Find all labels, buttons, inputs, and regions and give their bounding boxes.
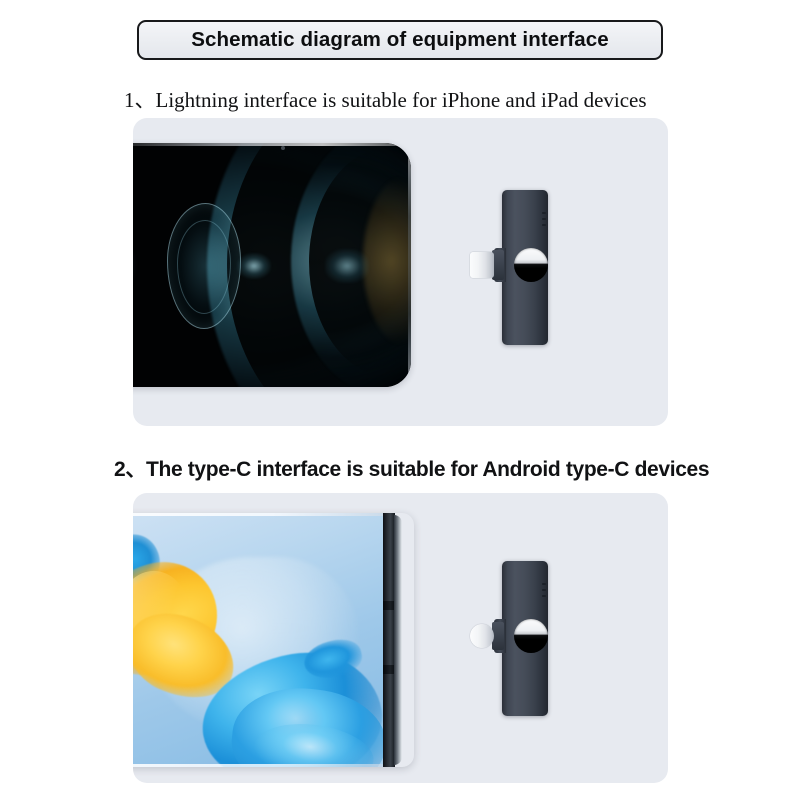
wallpaper-secondary-glow	[325, 249, 369, 283]
iphone-screen	[133, 143, 411, 387]
adapter-ridge	[542, 224, 546, 226]
title-banner: Schematic diagram of equipment interface	[137, 20, 663, 60]
page-title: Schematic diagram of equipment interface	[191, 28, 609, 52]
section-2-panel	[133, 493, 668, 783]
adapter-ridge	[542, 589, 546, 591]
front-camera-dot	[281, 146, 285, 150]
android-device-image	[133, 513, 414, 767]
wallpaper-center-glow	[237, 253, 271, 279]
screen-top-highlight	[133, 513, 386, 516]
screen-bottom-highlight	[133, 764, 386, 767]
section-1-panel	[133, 118, 668, 426]
section-2-number: 2、	[114, 458, 146, 481]
device-frame-edge-highlight	[394, 515, 402, 765]
wallpaper-left-glow	[133, 239, 137, 293]
adapter-ridge	[542, 212, 546, 214]
android-screen	[133, 513, 386, 767]
adapter-ridge	[542, 583, 546, 585]
section-1-caption-text: Lightning interface is suitable for iPho…	[156, 88, 647, 112]
section-2-caption: 2、The type-C interface is suitable for A…	[114, 453, 709, 483]
typec-adapter	[470, 561, 590, 719]
adapter-keyring-hole	[514, 248, 548, 282]
section-1-number: 1、	[124, 88, 156, 112]
screen-right-highlight	[408, 143, 411, 387]
lightning-adapter	[470, 190, 590, 348]
typec-connector	[470, 624, 494, 648]
adapter-keyring-hole	[514, 619, 548, 653]
lightning-connector	[470, 252, 494, 278]
screen-top-highlight	[133, 143, 411, 146]
adapter-ridge	[542, 595, 546, 597]
adapter-ridge	[542, 218, 546, 220]
iphone-device-image	[133, 143, 411, 387]
section-2-caption-text: The type-C interface is suitable for And…	[146, 458, 709, 481]
section-1-caption: 1、Lightning interface is suitable for iP…	[124, 84, 647, 114]
